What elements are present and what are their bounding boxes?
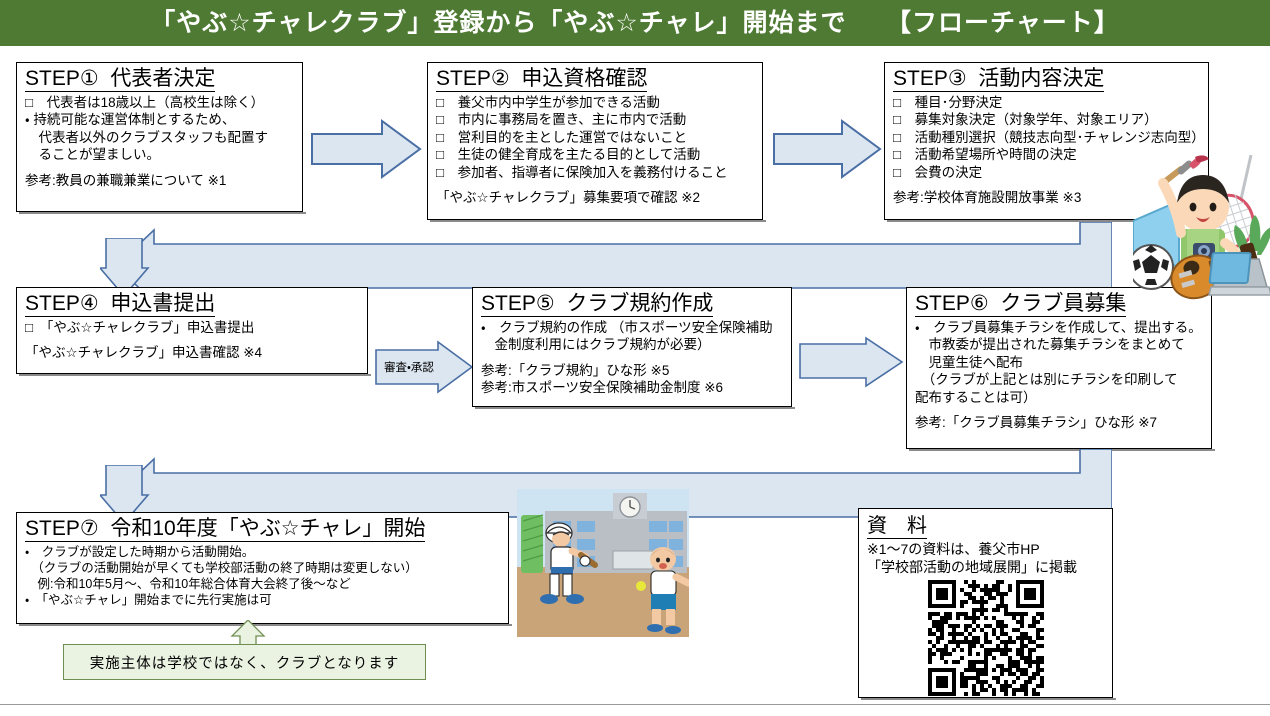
step-box-4: STEP④ 申込書提出 □ 「やぶ☆チャレクラブ」申込書提出 「やぶ☆チャレクラ… bbox=[16, 287, 368, 374]
step-box-5: STEP⑤ クラブ規約作成 ・ クラブ規約の作成 （市スポーツ安全保険補助 金制… bbox=[472, 287, 792, 407]
step-1-reference: 参考:教員の兼職兼業について ※1 bbox=[25, 172, 296, 190]
step-2-title: STEP② 申込資格確認 bbox=[436, 67, 647, 92]
step-6-reference: 参考:「クラブ員募集チラシ」ひな形 ※7 bbox=[915, 414, 1205, 432]
step-1-body: □ 代表者は18歳以上（高校生は除く） ・ 持続可能な運営体制とするため、 代表… bbox=[25, 94, 296, 164]
step-5-body: ・ クラブ規約の作成 （市スポーツ安全保険補助 金制度利用にはクラブ規約が必要） bbox=[481, 319, 785, 354]
step-7-body: ・ クラブが設定した時期から活動開始。 （クラブの活動開始が早くても学校部活動の… bbox=[25, 544, 502, 609]
step-1-shadow bbox=[19, 212, 306, 214]
arrow-step2-to-step3 bbox=[772, 118, 882, 180]
materials-box: 資 料 ※1〜7の資料は、養父市HP 「学校部活動の地域展開」に掲載 bbox=[858, 508, 1113, 698]
arrow-step5-to-step6 bbox=[798, 336, 904, 392]
arrow-step1-to-step2 bbox=[310, 118, 422, 180]
step-6-title: STEP⑥ クラブ員募集 bbox=[915, 292, 1126, 317]
step-box-6: STEP⑥ クラブ員募集 ・ クラブ員募集チラシを作成して、提出する。 市教委が… bbox=[906, 287, 1212, 449]
bottom-divider bbox=[0, 704, 1270, 705]
arrow-step3-to-step4 bbox=[112, 222, 1112, 292]
step-5-shadow bbox=[475, 407, 795, 409]
step-box-1: STEP① 代表者決定 □ 代表者は18歳以上（高校生は除く） ・ 持続可能な運… bbox=[16, 62, 303, 212]
step-4-reference: 「やぶ☆チャレクラブ」申込書確認 ※4 bbox=[25, 344, 361, 362]
step-2-body: □ 養父市内中学生が参加できる活動 □ 市内に事務局を置き、主に市内で活動 □ … bbox=[436, 94, 756, 182]
arrow-step4-to-step5-label: 審査・承認 bbox=[384, 359, 434, 375]
page-title: 「やぶ☆チャレクラブ」登録から「やぶ☆チャレ」開始まで 【フローチャート】 bbox=[150, 11, 1120, 36]
page-title-banner: 「やぶ☆チャレクラブ」登録から「やぶ☆チャレ」開始まで 【フローチャート】 bbox=[0, 0, 1270, 46]
step-3-title: STEP③ 活動内容決定 bbox=[893, 67, 1104, 92]
step-4-title: STEP④ 申込書提出 bbox=[25, 292, 215, 317]
step-1-title: STEP① 代表者決定 bbox=[25, 67, 215, 92]
step-6-body: ・ クラブ員募集チラシを作成して、提出する。 市教委が提出された募集チラシをまと… bbox=[915, 319, 1205, 407]
step-4-shadow bbox=[19, 374, 371, 376]
step-box-2: STEP② 申込資格確認 □ 養父市内中学生が参加できる活動 □ 市内に事務局を… bbox=[427, 62, 763, 220]
step-box-7: STEP⑦ 令和10年度「やぶ☆チャレ」開始 ・ クラブが設定した時期から活動開… bbox=[16, 512, 509, 624]
step-4-body: □ 「やぶ☆チャレクラブ」申込書提出 bbox=[25, 319, 361, 337]
kids-activities-illustration bbox=[1133, 155, 1270, 300]
step-5-reference: 参考:「クラブ規約」ひな形 ※5 参考:市スポーツ安全保険補助金制度 ※6 bbox=[481, 362, 785, 397]
materials-body: ※1〜7の資料は、養父市HP 「学校部活動の地域展開」に掲載 bbox=[867, 540, 1104, 576]
step-7-title: STEP⑦ 令和10年度「やぶ☆チャレ」開始 bbox=[25, 517, 425, 542]
step-2-reference: 「やぶ☆チャレクラブ」募集要項で確認 ※2 bbox=[436, 189, 756, 207]
flowchart-page: 「やぶ☆チャレクラブ」登録から「やぶ☆チャレ」開始まで 【フローチャート】 ST… bbox=[0, 0, 1270, 716]
callout-box: 実施主体は学校ではなく、クラブとなります bbox=[63, 644, 426, 680]
qr-code[interactable] bbox=[928, 580, 1044, 696]
materials-shadow bbox=[861, 698, 1116, 700]
materials-title: 資 料 bbox=[867, 515, 927, 539]
step-5-title: STEP⑤ クラブ規約作成 bbox=[481, 292, 713, 317]
callout-text: 実施主体は学校ではなく、クラブとなります bbox=[90, 652, 400, 673]
school-sports-illustration bbox=[517, 489, 689, 637]
